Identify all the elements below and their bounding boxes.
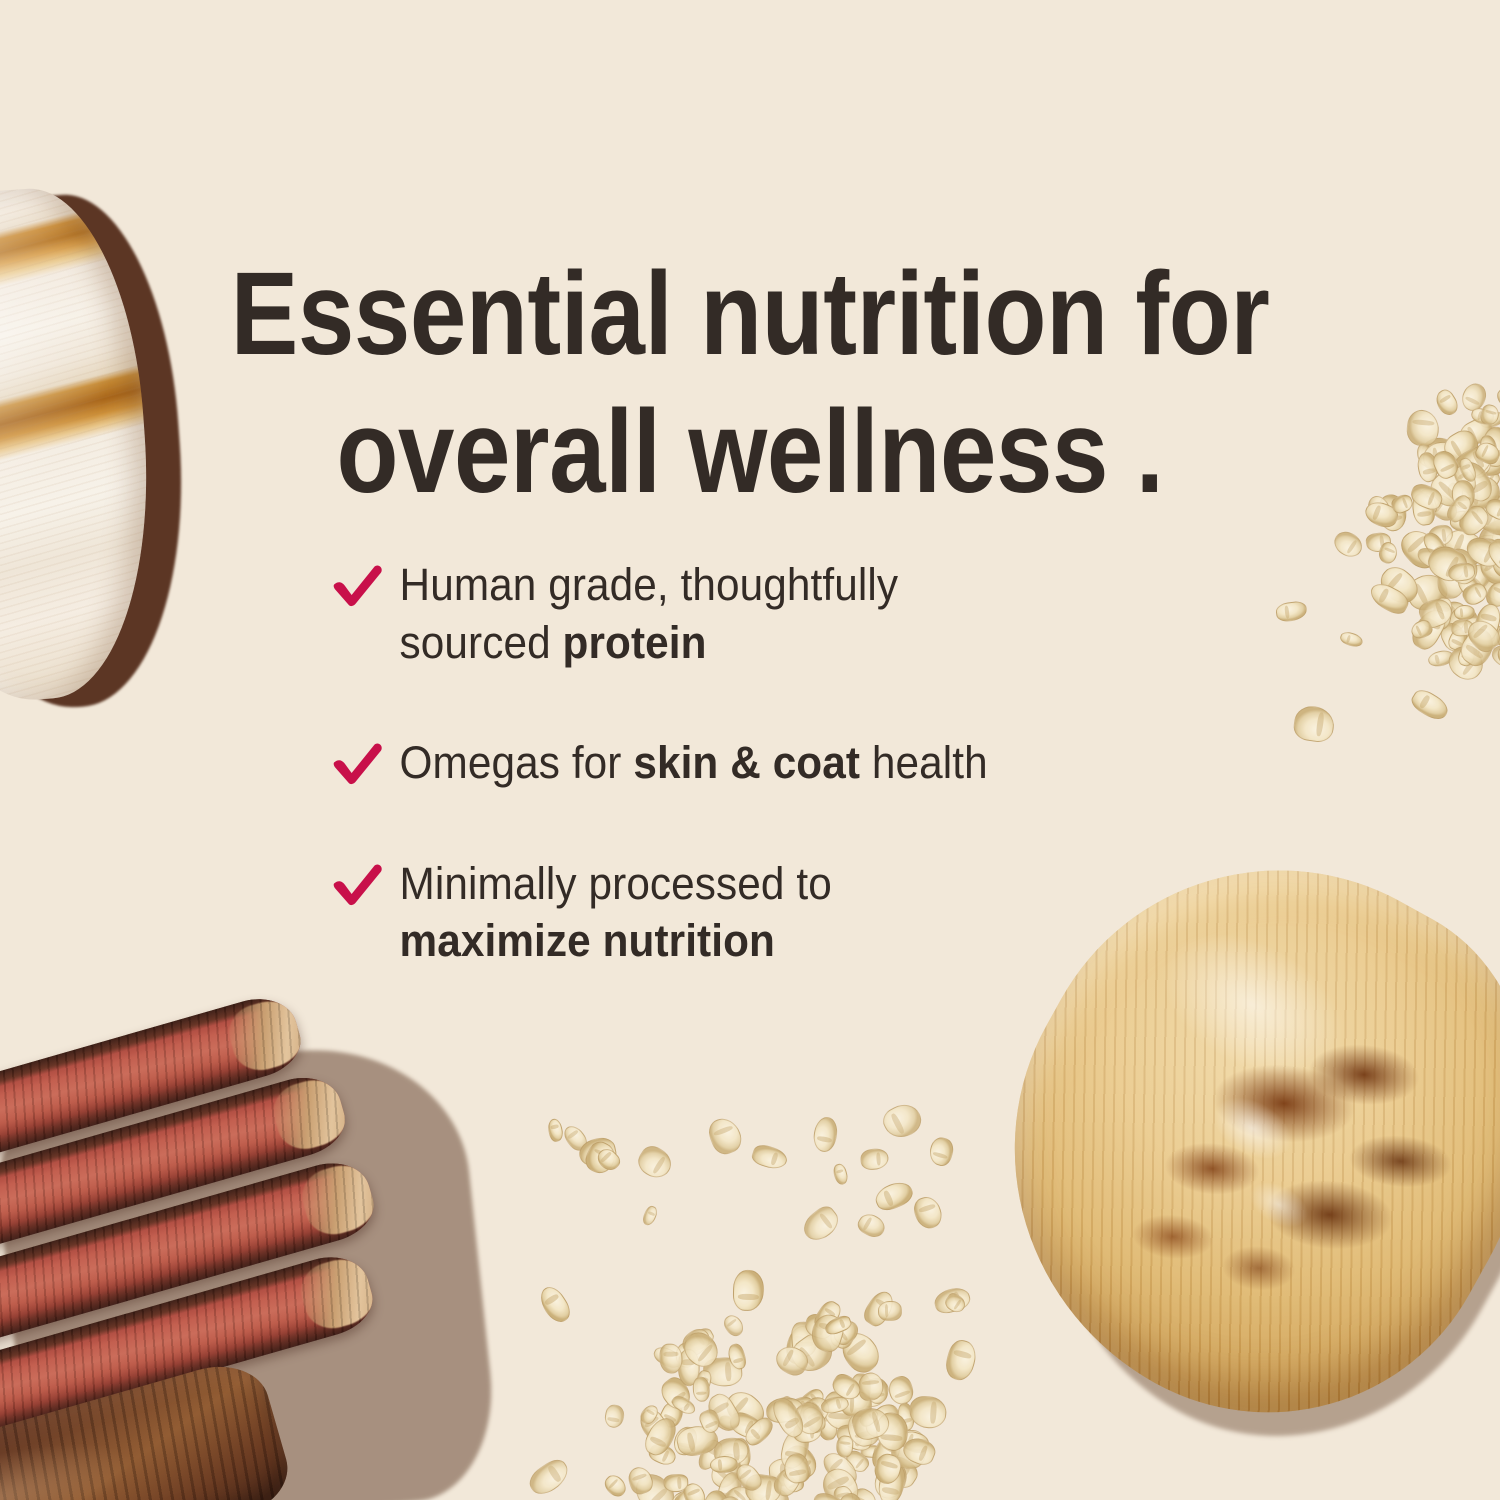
- oat-flake: [721, 1312, 747, 1339]
- steak-fat-cap: [295, 1251, 380, 1335]
- oat-flake: [908, 1395, 947, 1430]
- oat-flake: [860, 1148, 889, 1170]
- benefits-list: Human grade, thoughtfullysourced protein…: [330, 556, 1210, 970]
- promo-banner: Essential nutrition for overall wellness…: [0, 0, 1500, 1500]
- list-item: Human grade, thoughtfullysourced protein: [330, 556, 1157, 671]
- oat-flake: [546, 1117, 565, 1142]
- oat-flake: [1330, 527, 1366, 562]
- list-item-label: Omegas for skin & coat health: [400, 737, 988, 788]
- sliced-steak-image: [0, 955, 508, 1500]
- oat-flake: [640, 1204, 659, 1227]
- steak-fat-cap: [223, 993, 308, 1077]
- oat-flake: [535, 1283, 575, 1327]
- oat-flake: [1339, 630, 1365, 649]
- steak-fat-cap: [267, 1072, 352, 1156]
- headline-line-1: Essential nutrition for: [105, 257, 1395, 373]
- oat-flake: [525, 1454, 575, 1499]
- oats-scatter-bottom: [540, 1120, 970, 1500]
- oat-flake: [633, 1141, 677, 1183]
- oat-flake: [872, 1178, 916, 1215]
- oat-flake: [799, 1203, 844, 1246]
- oat-flake: [1433, 387, 1462, 419]
- oat-flake: [879, 1098, 927, 1144]
- steak-fat-cap: [296, 1157, 381, 1241]
- list-item: Omegas for skin & coat health: [330, 734, 1157, 792]
- oat-flake: [854, 1210, 888, 1242]
- list-item-label: Human grade, thoughtfullysourced protein: [400, 559, 899, 668]
- oat-flake: [926, 1134, 956, 1168]
- oat-flake: [602, 1472, 631, 1500]
- oat-flake: [733, 1270, 765, 1312]
- oat-flake: [1408, 686, 1452, 724]
- headline-line-2: overall wellness .: [105, 395, 1395, 511]
- oat-flake: [942, 1338, 980, 1384]
- list-item: Minimally processed tomaximize nutrition: [330, 855, 1157, 970]
- oat-flake: [1275, 600, 1309, 623]
- oat-flake: [911, 1194, 945, 1233]
- check-icon: [332, 740, 385, 786]
- oat-flake: [692, 1377, 710, 1402]
- list-item-label: Minimally processed tomaximize nutrition: [400, 858, 832, 967]
- oat-flake: [811, 1116, 840, 1154]
- oat-flake: [659, 1344, 683, 1374]
- oat-flake: [1292, 703, 1337, 744]
- oat-flake: [878, 1301, 902, 1321]
- headline: Essential nutrition for overall wellness…: [105, 257, 1395, 510]
- oat-flake: [832, 1163, 850, 1187]
- oat-flake: [750, 1143, 790, 1174]
- oat-flake: [603, 1403, 625, 1429]
- check-icon: [332, 562, 385, 608]
- oat-flake: [705, 1114, 746, 1159]
- check-icon: [332, 861, 385, 907]
